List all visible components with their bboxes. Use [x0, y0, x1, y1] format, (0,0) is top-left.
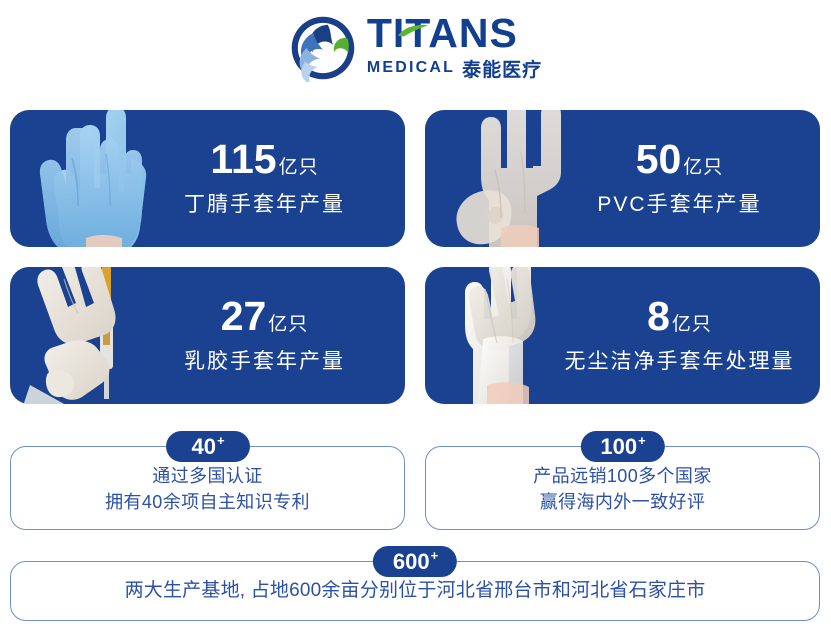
highlight-card-body: 通过多国认证 拥有40余项自主知识专利	[11, 447, 404, 529]
highlight-line: 通过多国认证	[152, 464, 262, 490]
logo-brand-text: TITANS	[367, 14, 542, 53]
green-leaf-accent-icon	[396, 5, 430, 19]
highlight-line: 赢得海内外一致好评	[540, 490, 706, 516]
stat-card-text: 50 亿只 PVC手套年产量	[557, 110, 802, 247]
stat-unit: 亿只	[683, 152, 723, 179]
logo-wordmark: TITANS MEDICAL 泰能医疗	[367, 14, 542, 82]
stat-number-row: 115 亿只	[210, 139, 318, 180]
stat-number: 50	[636, 139, 682, 180]
logo-chinese-label: 泰能医疗	[462, 55, 542, 82]
logo-brand-label: TITANS	[367, 10, 518, 56]
stat-unit: 亿只	[268, 309, 308, 336]
stat-number-row: 50 亿只	[636, 139, 724, 180]
stat-unit: 亿只	[672, 309, 712, 336]
logo-subtitle-row: MEDICAL 泰能医疗	[367, 55, 542, 82]
stat-number-row: 27 亿只	[221, 296, 309, 337]
highlight-card-exports: 100 + 产品远销100多个国家 赢得海内外一致好评	[425, 446, 820, 530]
highlight-card-body: 两大生产基地, 占地600余亩分别位于河北省邢台市和河北省石家庄市	[11, 562, 819, 620]
stat-card-text: 27 亿只 乳胶手套年产量	[142, 267, 387, 404]
stat-card-pvc: 50 亿只 PVC手套年产量	[425, 110, 820, 247]
stat-card-text: 115 亿只 丁腈手套年产量	[142, 110, 387, 247]
highlight-card-body: 产品远销100多个国家 赢得海内外一致好评	[426, 447, 819, 529]
titans-swirl-logo-icon	[289, 14, 357, 82]
brand-logo-header: TITANS MEDICAL 泰能医疗	[0, 0, 831, 96]
stat-card-nitrile: 115 亿只 丁腈手套年产量	[10, 110, 405, 247]
badge-plus-suffix: +	[431, 549, 439, 562]
highlight-line: 两大生产基地, 占地600余亩分别位于河北省邢台市和河北省石家庄市	[125, 578, 706, 605]
stat-card-latex: 27 亿只 乳胶手套年产量	[10, 267, 405, 404]
highlight-line: 产品远销100多个国家	[533, 464, 711, 490]
stat-label: 乳胶手套年产量	[184, 345, 345, 375]
highlight-card-facilities: 600 + 两大生产基地, 占地600余亩分别位于河北省邢台市和河北省石家庄市	[10, 561, 820, 621]
stat-label: PVC手套年产量	[597, 188, 761, 218]
badge-plus-suffix: +	[638, 434, 646, 447]
stat-card-text: 8 亿只 无尘洁净手套年处理量	[557, 267, 802, 404]
highlight-line: 拥有40余项自主知识专利	[105, 490, 310, 516]
stat-label: 无尘洁净手套年处理量	[565, 345, 795, 375]
stat-card-cleanroom: 8 亿只 无尘洁净手套年处理量	[425, 267, 820, 404]
stat-label: 丁腈手套年产量	[184, 188, 345, 218]
badge-plus-suffix: +	[217, 434, 225, 447]
stat-number: 8	[647, 296, 670, 337]
stat-unit: 亿只	[279, 152, 319, 179]
logo-medical-label: MEDICAL	[367, 59, 455, 77]
highlight-card-certifications: 40 + 通过多国认证 拥有40余项自主知识专利	[10, 446, 405, 530]
stat-number-row: 8 亿只	[647, 296, 712, 337]
stat-number: 27	[221, 296, 267, 337]
stat-number: 115	[210, 139, 276, 180]
